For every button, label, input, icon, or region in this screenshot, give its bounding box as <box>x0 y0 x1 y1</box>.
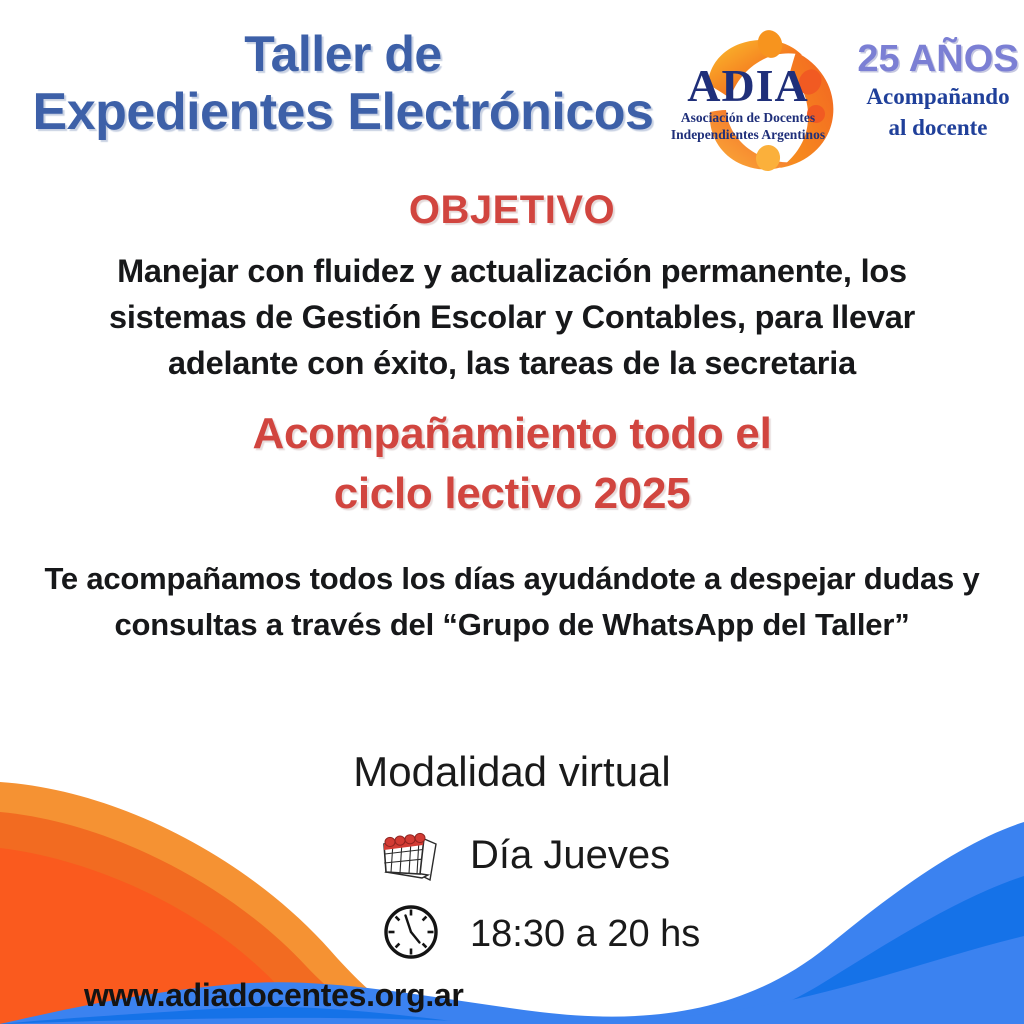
adia-logo: ADIA Asociación de Docentes Independient… <box>664 22 1020 174</box>
flyer-header: Taller de Expedientes Electrónicos <box>0 0 1024 180</box>
adia-subtitle-line-1: Asociación de Docentes <box>668 110 828 125</box>
adia-acronym: ADIA <box>668 64 828 108</box>
title-line-2: Expedientes Electrónicos <box>28 83 658 142</box>
tagline-line-2: al docente <box>856 116 1020 140</box>
adia-wordmark: ADIA Asociación de Docentes Independient… <box>668 64 828 142</box>
objetivo-heading: OBJETIVO <box>0 188 1024 233</box>
objetivo-body-text: Manejar con fluidez y actualización perm… <box>62 248 962 386</box>
whatsapp-note: Te acompañamos todos los días ayudándote… <box>44 556 980 648</box>
detail-row-time: 18:30 a 20 hs <box>378 898 700 964</box>
adia-subtitle-line-2: Independientes Argentinos <box>668 127 828 142</box>
detail-time-text: 18:30 a 20 hs <box>470 909 700 953</box>
acompanamiento-line-2: ciclo lectivo 2025 <box>92 464 932 524</box>
calendar-icon <box>378 822 444 888</box>
title-line-1: Taller de <box>28 26 658 83</box>
modalidad-text: Modalidad virtual <box>0 748 1024 796</box>
tagline-line-1: Acompañando <box>856 85 1020 109</box>
anniversary-years: 25 AÑOS <box>856 40 1020 78</box>
detail-day-text: Día Jueves <box>470 835 670 875</box>
detail-row-day: Día Jueves <box>378 822 670 888</box>
clock-icon <box>378 898 444 964</box>
anniversary-badge: 25 AÑOS Acompañando al docente <box>856 40 1020 141</box>
page-title: Taller de Expedientes Electrónicos <box>28 26 658 142</box>
website-url: www.adiadocentes.org.ar <box>84 977 464 1014</box>
acompanamiento-line-1: Acompañamiento todo el <box>92 404 932 464</box>
acompanamiento-headline: Acompañamiento todo el ciclo lectivo 202… <box>92 404 932 524</box>
flyer-canvas: Taller de Expedientes Electrónicos <box>0 0 1024 1024</box>
